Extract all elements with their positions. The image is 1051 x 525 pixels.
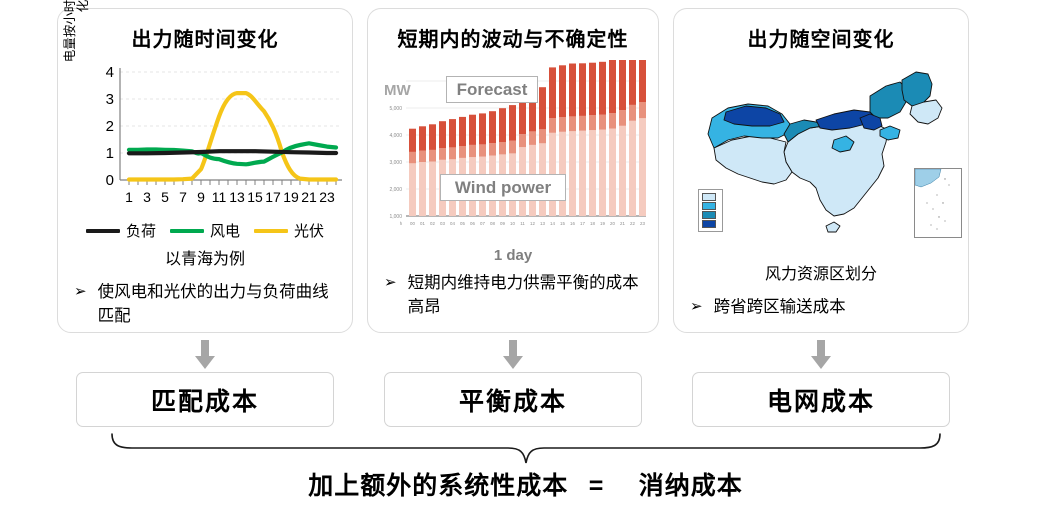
svg-text:17: 17: [265, 189, 281, 205]
y-axis-label-line2: 化: [77, 0, 90, 66]
svg-text:06: 06: [470, 221, 475, 226]
panel-spatial-variation: 出力随空间变化: [673, 8, 969, 333]
legend-swatch-solar: [254, 229, 288, 233]
bullet-arrow-icon: ➢: [74, 281, 87, 303]
bullet-arrow-icon: ➢: [384, 272, 397, 294]
svg-text:09: 09: [500, 221, 505, 226]
cost-box-balancing: 平衡成本: [384, 372, 642, 427]
map-inset-svg: [915, 169, 961, 237]
svg-text:02: 02: [430, 221, 435, 226]
svg-text:1: 1: [125, 189, 133, 205]
svg-text:23: 23: [640, 221, 645, 226]
map-region-hainan: [826, 222, 840, 232]
legend-item-solar: 光伏: [254, 220, 324, 241]
line-chart-legend: 负荷 风电 光伏: [58, 220, 352, 241]
svg-text:2,000: 2,000: [389, 187, 402, 193]
svg-text:14: 14: [550, 221, 555, 226]
down-arrow-icon-2: [502, 340, 524, 370]
svg-text:08: 08: [490, 221, 495, 226]
infographic-root: 出力随时间变化 电量按小时平均标准 化: [0, 0, 1051, 525]
cost-box-matching: 匹配成本: [76, 372, 334, 427]
map-legend-chip-zone1: [702, 193, 716, 201]
bullet-text: 短期内维持电力供需平衡的成本高昂: [408, 272, 644, 320]
svg-text:4: 4: [106, 64, 114, 81]
svg-text:13: 13: [540, 221, 545, 226]
svg-text:0: 0: [106, 172, 114, 189]
svg-text:23: 23: [319, 189, 335, 205]
legend-swatch-load: [86, 229, 120, 233]
summary-equals-sign: =: [589, 472, 605, 500]
svg-text:3: 3: [143, 189, 151, 205]
bar-chart: 5,000 4,000 3,000 2,000 1,000: [368, 60, 658, 260]
cost-box-label: 匹配成本: [151, 382, 259, 418]
down-arrow-icon-1: [194, 340, 216, 370]
bullet-row: ➢ 使风电和光伏的出力与负荷曲线匹配: [58, 281, 352, 329]
svg-text:5,000: 5,000: [389, 106, 402, 112]
bar-col-19: [599, 62, 606, 216]
callout-wind-power: Wind power: [440, 174, 566, 201]
down-arrow-icon-3: [810, 340, 832, 370]
svg-text:2: 2: [106, 118, 114, 135]
svg-text:1: 1: [106, 145, 114, 162]
svg-text:01: 01: [420, 221, 425, 226]
svg-text:15: 15: [560, 221, 565, 226]
china-wind-resource-map: [674, 56, 968, 256]
panel-caption: 以青海为例: [58, 245, 352, 269]
map-legend-chip-zone3: [702, 211, 716, 219]
legend-item-load: 负荷: [86, 220, 156, 241]
svg-text:18: 18: [590, 221, 595, 226]
map-region-southwest: [714, 136, 792, 184]
bar-col-21: [619, 60, 626, 216]
bar-col-18: [589, 63, 596, 216]
map-legend-row: [702, 220, 719, 228]
legend-label-solar: 光伏: [294, 220, 324, 241]
bar-col-16: [569, 64, 576, 217]
svg-text:00: 00: [410, 221, 415, 226]
legend-label-load: 负荷: [126, 220, 156, 241]
bullet-row: ➢ 跨省跨区输送成本: [674, 296, 968, 320]
map-region-northeast: [902, 72, 932, 106]
line-chart-y-axis-label: 电量按小时平均标准 化: [64, 0, 90, 66]
bar-col-03: [439, 121, 446, 216]
legend-item-wind: 风电: [170, 220, 240, 241]
svg-text:1,000: 1,000: [389, 214, 402, 220]
callout-forecast: Forecast: [446, 76, 538, 103]
bar-col-22: [629, 60, 636, 216]
svg-text:07: 07: [480, 221, 485, 226]
panel-short-term-volatility: 短期内的波动与不确定性 5,000 4,000 3,000 2,000 1: [367, 8, 659, 333]
panel-time-variation: 出力随时间变化 电量按小时平均标准 化: [57, 8, 353, 333]
svg-text:3,000: 3,000: [389, 160, 402, 166]
svg-text:h: h: [400, 221, 403, 226]
legend-swatch-wind: [170, 229, 204, 233]
bar-col-01: [419, 126, 426, 216]
bullet-row: ➢ 短期内维持电力供需平衡的成本高昂: [368, 272, 658, 320]
svg-text:19: 19: [600, 221, 605, 226]
svg-text:3: 3: [106, 91, 114, 108]
svg-text:10: 10: [510, 221, 515, 226]
cost-box-label: 电网成本: [767, 382, 875, 418]
summary-equation: 加上额外的系统性成本 = 消纳成本: [0, 466, 1051, 502]
svg-text:16: 16: [570, 221, 575, 226]
map-inset-south-china-sea: [914, 168, 962, 238]
bullet-text: 跨省跨区输送成本: [714, 296, 846, 320]
gridlines: [120, 72, 342, 153]
x-tick-labels: 1 3 5 7 9 11 13 15 17 19 21 23: [125, 189, 335, 205]
svg-text:21: 21: [620, 221, 625, 226]
svg-text:12: 12: [530, 221, 535, 226]
panel-title: 出力随时间变化: [58, 23, 352, 52]
bar-col-02: [429, 124, 436, 216]
svg-text:22: 22: [630, 221, 635, 226]
svg-text:04: 04: [450, 221, 455, 226]
map-legend-row: [702, 211, 719, 219]
series-line-load: [129, 151, 336, 153]
bullet-text: 使风电和光伏的出力与负荷曲线匹配: [98, 281, 338, 329]
bar-chart-y-axis-unit: MW: [384, 82, 411, 99]
cost-box-grid: 电网成本: [692, 372, 950, 427]
svg-text:20: 20: [610, 221, 615, 226]
series-line-solar: [129, 93, 336, 179]
bar-col-00: [409, 129, 416, 216]
cost-box-label: 平衡成本: [459, 382, 567, 418]
panel-title: 短期内的波动与不确定性: [368, 23, 658, 52]
bar-col-04: [449, 119, 456, 216]
svg-text:7: 7: [179, 189, 187, 205]
svg-text:19: 19: [283, 189, 299, 205]
summary-right-term: 消纳成本: [639, 472, 743, 500]
panel-title: 出力随空间变化: [674, 23, 968, 52]
map-legend: [698, 189, 723, 232]
bar-chart-x-axis-label: 1 day: [368, 247, 658, 264]
svg-text:4,000: 4,000: [389, 133, 402, 139]
bullet-arrow-icon: ➢: [690, 296, 703, 318]
bar-col-23: [639, 60, 646, 216]
bar-col-20: [609, 60, 616, 216]
svg-text:15: 15: [247, 189, 263, 205]
x-tick-labels: h 000102 030405 060708 091011 121314 151…: [400, 221, 646, 226]
svg-text:11: 11: [212, 189, 227, 205]
svg-text:03: 03: [440, 221, 445, 226]
summary-left-term: 加上额外的系统性成本: [308, 472, 568, 500]
svg-text:11: 11: [520, 221, 525, 226]
map-legend-row: [702, 193, 719, 201]
bar-col-17: [579, 63, 586, 216]
bar-col-05: [459, 117, 466, 216]
y-tick-labels: 5,000 4,000 3,000 2,000 1,000: [389, 106, 402, 220]
panel-caption: 风力资源区划分: [674, 260, 968, 284]
svg-text:5: 5: [161, 189, 169, 205]
svg-text:05: 05: [460, 221, 465, 226]
line-chart-svg: 0 1 2 3 4 1 3 5 7 9 11 13 15 17 19 21 23: [84, 58, 352, 213]
svg-text:13: 13: [229, 189, 245, 205]
map-legend-chip-zone2: [702, 202, 716, 210]
svg-text:9: 9: [197, 189, 205, 205]
summary-brace: [110, 432, 942, 466]
svg-text:17: 17: [580, 221, 585, 226]
legend-label-wind: 风电: [210, 220, 240, 241]
y-tick-labels: 0 1 2 3 4: [106, 64, 114, 189]
map-legend-chip-zone4: [702, 220, 716, 228]
line-chart: 电量按小时平均标准 化: [58, 58, 352, 218]
svg-text:21: 21: [301, 189, 317, 205]
map-legend-row: [702, 202, 719, 210]
